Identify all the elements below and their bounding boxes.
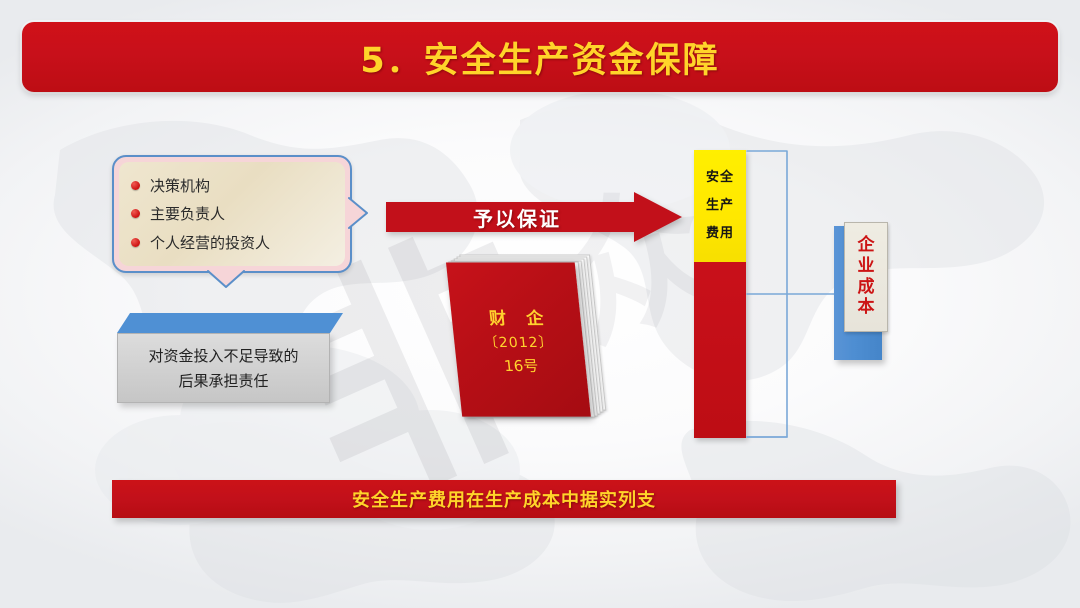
list-item: 个人经营的投资人 (131, 232, 335, 253)
document-number: 16号 (503, 354, 539, 375)
bracket-connector (745, 148, 845, 440)
safety-fee-bar: 安全 生产 费用 (694, 150, 746, 438)
cost-word: 成 (858, 278, 875, 298)
bullet-dot-icon (131, 209, 140, 218)
guarantee-arrow (386, 192, 682, 242)
cost-word: 业 (858, 257, 875, 277)
callout-inner-panel: 决策机构 主要负责人 个人经营的投资人 (119, 162, 345, 266)
callout-tail-right-icon (348, 196, 370, 230)
safety-fee-bar-bottom (694, 262, 746, 438)
cost-word: 本 (858, 298, 875, 318)
page-title: 5．安全生产资金保障 (360, 32, 719, 83)
document-stack: 财 企 〔2012〕 16号 (446, 262, 604, 426)
safety-fee-bar-top: 安全 生产 费用 (694, 150, 746, 262)
cost-box-panel: 企 业 成 本 (844, 222, 888, 332)
responsible-party-label: 决策机构 (150, 175, 210, 196)
cost-word: 企 (858, 236, 875, 256)
bottom-banner-text: 安全生产费用在生产成本中据实列支 (352, 486, 656, 512)
bullet-dot-icon (131, 181, 140, 190)
slide-canvas: 非 众 5．安全生产资金保障 决策机构 主要负责人 个人经营的投资人 (0, 0, 1080, 608)
document-cover: 财 企 〔2012〕 16号 (446, 262, 591, 416)
document-year: 〔2012〕 (483, 332, 555, 352)
responsible-parties-callout: 决策机构 主要负责人 个人经营的投资人 (112, 155, 352, 273)
fee-word: 安全 (706, 171, 734, 185)
liability-box: 对资金投入不足导致的 后果承担责任 (117, 313, 330, 403)
liability-text-line-1: 对资金投入不足导致的 (148, 345, 298, 366)
bullet-dot-icon (131, 238, 140, 247)
bottom-banner: 安全生产费用在生产成本中据实列支 (112, 480, 896, 518)
list-item: 决策机构 (131, 175, 335, 196)
liability-box-top-face (117, 313, 330, 333)
liability-text-line-2: 后果承担责任 (178, 370, 268, 391)
list-item: 主要负责人 (131, 203, 335, 224)
responsible-party-label: 主要负责人 (150, 203, 225, 224)
fee-word: 费用 (706, 227, 734, 241)
callout-tail-bottom-icon (206, 270, 246, 290)
fee-word: 生产 (706, 199, 734, 213)
document-title: 财 企 (481, 304, 552, 329)
title-banner: 5．安全生产资金保障 (22, 22, 1058, 92)
liability-box-face: 对资金投入不足导致的 后果承担责任 (117, 333, 330, 403)
responsible-party-label: 个人经营的投资人 (150, 232, 270, 253)
enterprise-cost-box: 企 业 成 本 (834, 226, 890, 360)
